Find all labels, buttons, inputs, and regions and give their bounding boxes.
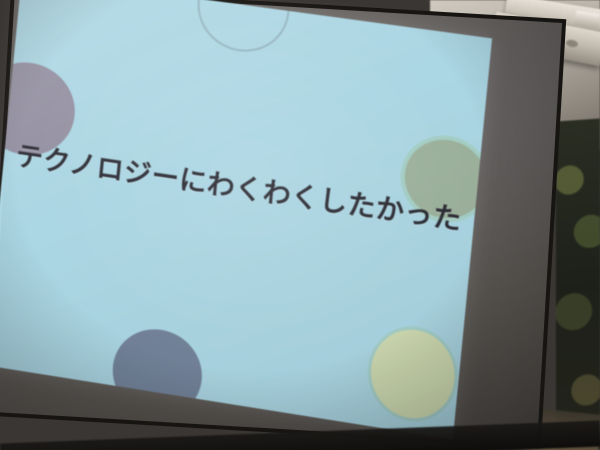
projector-room-photo: テクノロジーにわくわくしたかった (0, 0, 600, 450)
circle-outline-top-icon (193, 0, 293, 58)
circle-yellow-bottom-right-icon (367, 324, 459, 425)
projected-slide-area: テクノロジーにわくわくしたかった (0, 0, 492, 439)
projector-screen: テクノロジーにわくわくしたかった (0, 0, 583, 450)
presentation-slide: テクノロジーにわくわくしたかった (0, 0, 492, 439)
